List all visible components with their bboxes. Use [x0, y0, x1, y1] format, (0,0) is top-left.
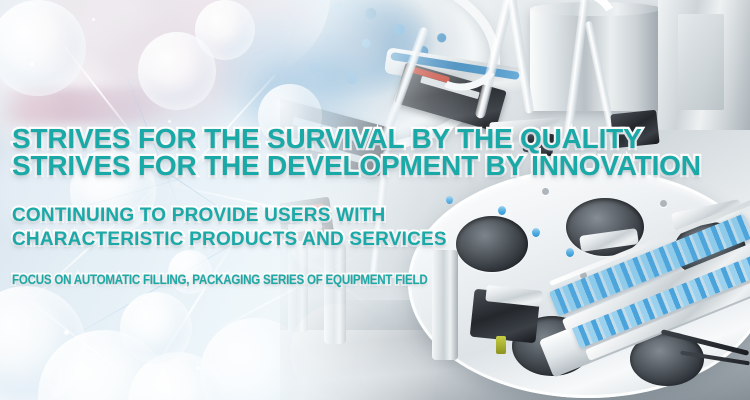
tagline-text: FOCUS ON AUTOMATIC FILLING, PACKAGING SE… — [12, 272, 427, 288]
promo-banner: STRIVES FOR THE SURVIVAL BY THE QUALITY … — [0, 0, 750, 400]
subheading-line-1: CONTINUING TO PROVIDE USERS WITH — [12, 204, 385, 228]
headline-line-1: STRIVES FOR THE SURVIVAL BY THE QUALITY — [12, 125, 642, 152]
text-readability-veil — [0, 0, 750, 400]
tagline-block: FOCUS ON AUTOMATIC FILLING, PACKAGING SE… — [12, 272, 495, 288]
headline-line-2: STRIVES FOR THE DEVELOPMENT BY INNOVATIO… — [12, 152, 701, 179]
subheading-line-2: CHARACTERISTIC PRODUCTS AND SERVICES — [12, 228, 447, 252]
